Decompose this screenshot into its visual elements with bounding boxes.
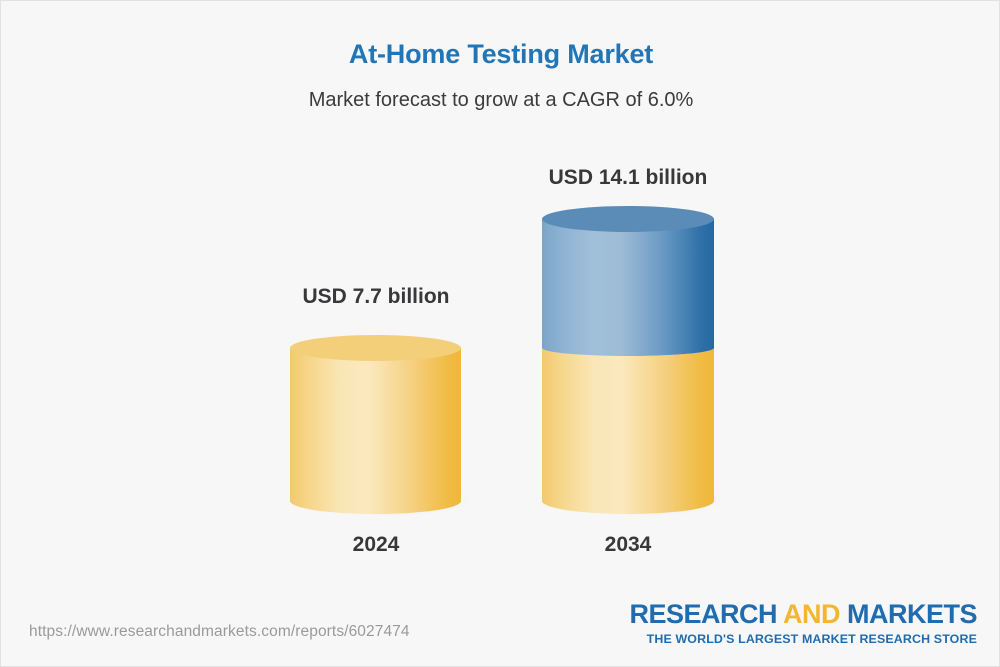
plot-area: USD 7.7 billion USD 14.1 billion 2024 20… bbox=[1, 1, 1000, 601]
bar-2024 bbox=[290, 335, 473, 517]
category-label-2034: 2034 bbox=[468, 533, 788, 557]
research-and-markets-logo: RESEARCH AND MARKETS THE WORLD'S LARGEST… bbox=[629, 601, 977, 646]
logo-tagline: THE WORLD'S LARGEST MARKET RESEARCH STOR… bbox=[629, 632, 977, 646]
value-label-2024: USD 7.7 billion bbox=[216, 285, 536, 309]
source-url[interactable]: https://www.researchandmarkets.com/repor… bbox=[29, 623, 410, 641]
logo-and-text: AND bbox=[783, 599, 840, 629]
logo-research-text: RESEARCH bbox=[629, 599, 777, 629]
bar-2034 bbox=[542, 206, 725, 517]
logo-wordmark: RESEARCH AND MARKETS bbox=[629, 601, 977, 628]
chart-canvas: At-Home Testing Market Market forecast t… bbox=[0, 0, 1000, 667]
value-label-2034: USD 14.1 billion bbox=[468, 166, 788, 190]
logo-markets-text: MARKETS bbox=[847, 599, 977, 629]
